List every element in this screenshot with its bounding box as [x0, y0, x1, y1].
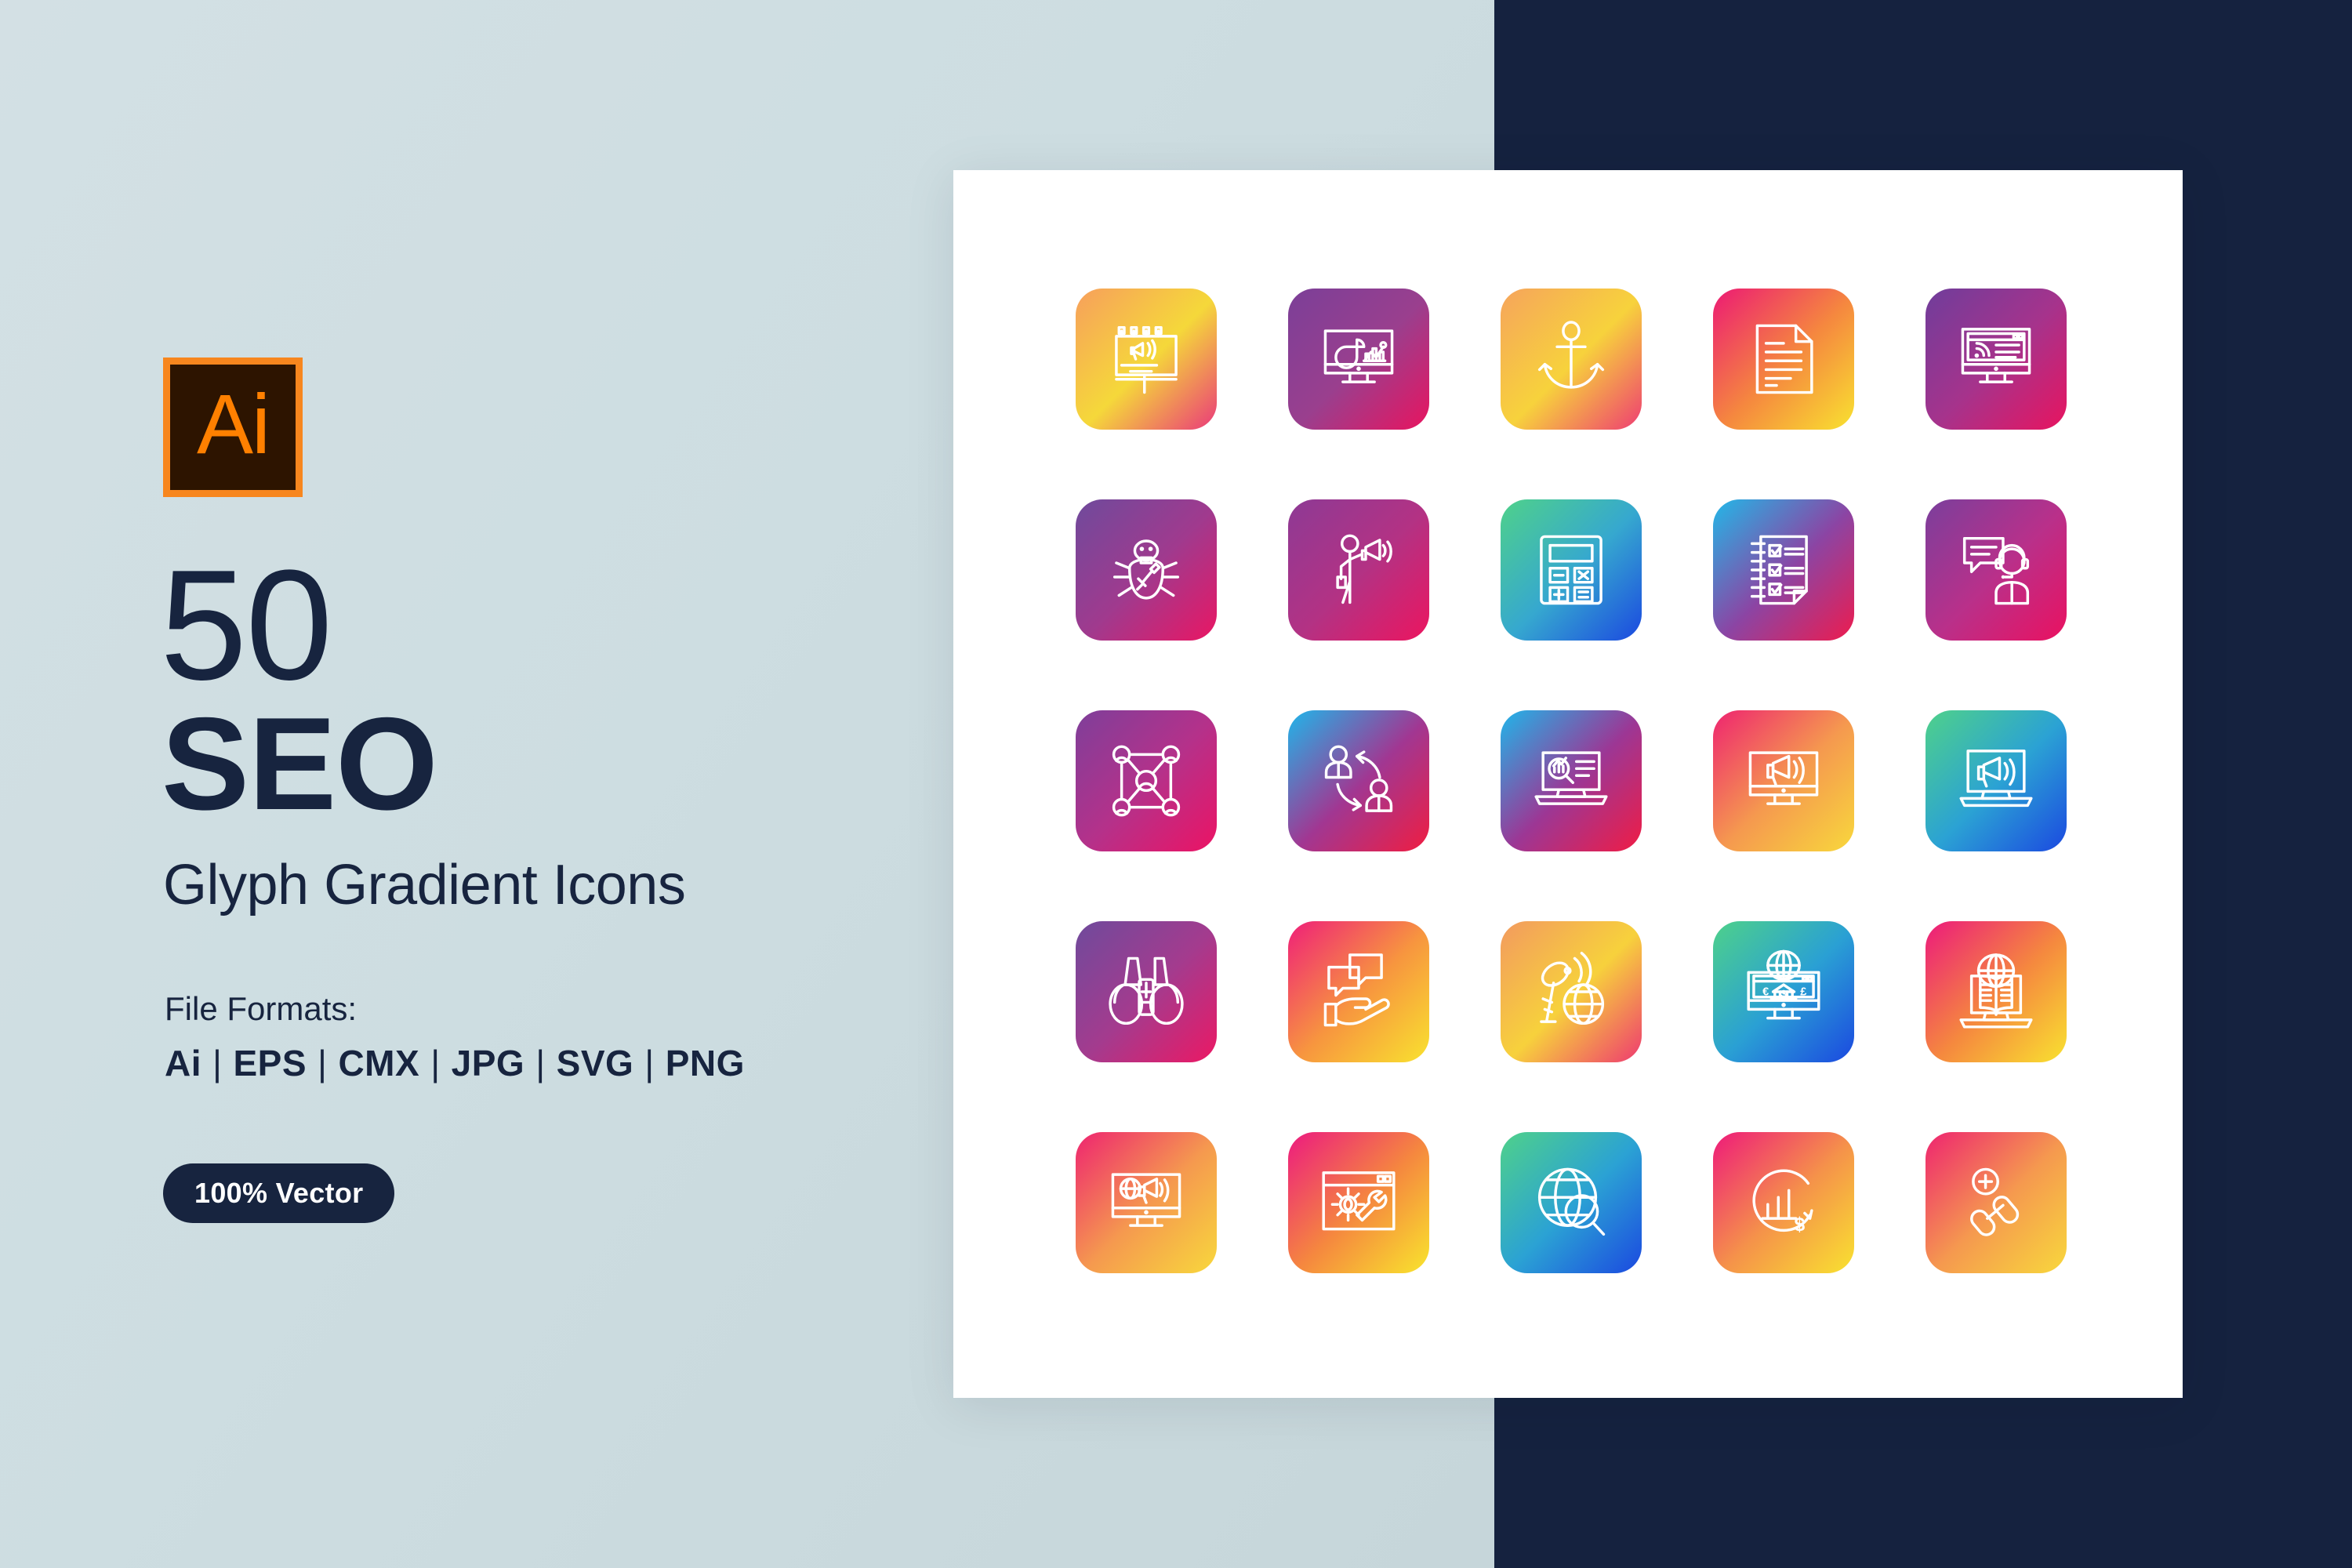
- page-subtitle: Glyph Gradient Icons: [163, 857, 685, 913]
- svg-text:€: €: [1762, 985, 1769, 998]
- checklist-notepad-icon: [1740, 526, 1828, 614]
- icon-tile[interactable]: [1501, 499, 1642, 641]
- format-cmx: CMX: [338, 1045, 419, 1081]
- web-development-icon: [1315, 1159, 1403, 1247]
- icon-tile[interactable]: [1926, 921, 2067, 1062]
- user-exchange-icon: [1315, 737, 1403, 825]
- binoculars-icon: [1102, 948, 1190, 1036]
- hand-chat-icon: [1315, 948, 1403, 1036]
- icon-tile[interactable]: [1288, 289, 1429, 430]
- icon-tile[interactable]: [1501, 921, 1642, 1062]
- icon-tile[interactable]: [1501, 710, 1642, 851]
- icon-tile[interactable]: [1076, 710, 1217, 851]
- bug-fix-icon: [1102, 526, 1190, 614]
- icon-tile[interactable]: [1501, 1132, 1642, 1273]
- icon-tile[interactable]: [1288, 710, 1429, 851]
- left-info-panel: Ai 50 SEO Glyph Gradient Icons File Form…: [163, 0, 947, 1568]
- format-png: PNG: [666, 1045, 745, 1081]
- format-svg: SVG: [557, 1045, 634, 1081]
- analytics-monitor-icon: [1315, 315, 1403, 403]
- format-eps: EPS: [233, 1045, 307, 1081]
- icon-count: 50: [160, 547, 331, 704]
- customer-support-icon: [1952, 526, 2040, 614]
- monitor-megaphone-icon: [1740, 737, 1828, 825]
- satellite-globe-icon: [1527, 948, 1615, 1036]
- icon-grid: €£$$: [1076, 289, 2067, 1273]
- elearning-book-icon: [1952, 948, 2040, 1036]
- format-jpg: JPG: [452, 1045, 525, 1081]
- social-network-icon: [1102, 737, 1190, 825]
- format-separator: |: [419, 1045, 451, 1081]
- format-separator: |: [201, 1045, 233, 1081]
- svg-text:£: £: [1800, 985, 1806, 998]
- icon-tile[interactable]: [1076, 1132, 1217, 1273]
- format-separator: |: [307, 1045, 338, 1081]
- icon-tile[interactable]: [1076, 499, 1217, 641]
- icon-tile[interactable]: [1288, 499, 1429, 641]
- file-formats-label: File Formats:: [165, 993, 357, 1025]
- rss-feed-monitor-icon: [1952, 315, 2040, 403]
- icon-tile[interactable]: [1713, 710, 1854, 851]
- icon-tile[interactable]: [1926, 1132, 2067, 1273]
- laptop-megaphone-icon: [1952, 737, 2040, 825]
- svg-text:$: $: [1781, 989, 1787, 1000]
- icon-tile[interactable]: [1288, 1132, 1429, 1273]
- vector-badge: 100% Vector: [163, 1163, 394, 1223]
- icon-tile[interactable]: $: [1713, 1132, 1854, 1273]
- icon-tile[interactable]: [1288, 921, 1429, 1062]
- format-separator: |: [524, 1045, 556, 1081]
- global-marketing-monitor-icon: [1102, 1159, 1190, 1247]
- format-ai: Ai: [165, 1045, 201, 1081]
- billboard-megaphone-icon: [1102, 315, 1190, 403]
- roi-chart-icon: $: [1740, 1159, 1828, 1247]
- promotion-person-icon: [1315, 526, 1403, 614]
- icon-tile[interactable]: [1501, 289, 1642, 430]
- format-separator: |: [633, 1045, 665, 1081]
- calculator-icon: [1527, 526, 1615, 614]
- icon-tile[interactable]: €£$: [1713, 921, 1854, 1062]
- laptop-seo-analysis-icon: [1527, 737, 1615, 825]
- poster-canvas: Ai 50 SEO Glyph Gradient Icons File Form…: [0, 0, 2352, 1568]
- icon-tile[interactable]: [1926, 499, 2067, 641]
- icon-tile[interactable]: [1076, 289, 1217, 430]
- icon-tile[interactable]: [1076, 921, 1217, 1062]
- icon-tile[interactable]: [1926, 289, 2067, 430]
- article-document-icon: [1740, 315, 1828, 403]
- page-title: SEO: [162, 698, 437, 829]
- ai-logo-label: Ai: [197, 382, 269, 466]
- icon-tile[interactable]: [1926, 710, 2067, 851]
- file-formats-list: Ai|EPS|CMX|JPG|SVG|PNG: [165, 1045, 745, 1081]
- adobe-illustrator-icon: Ai: [163, 358, 303, 497]
- link-building-icon: [1952, 1159, 2040, 1247]
- online-banking-icon: €£$: [1740, 948, 1828, 1036]
- global-search-icon: [1527, 1159, 1615, 1247]
- svg-text:$: $: [1794, 1214, 1805, 1236]
- anchor-text-icon: [1527, 315, 1615, 403]
- icon-tile[interactable]: [1713, 499, 1854, 641]
- icon-tile[interactable]: [1713, 289, 1854, 430]
